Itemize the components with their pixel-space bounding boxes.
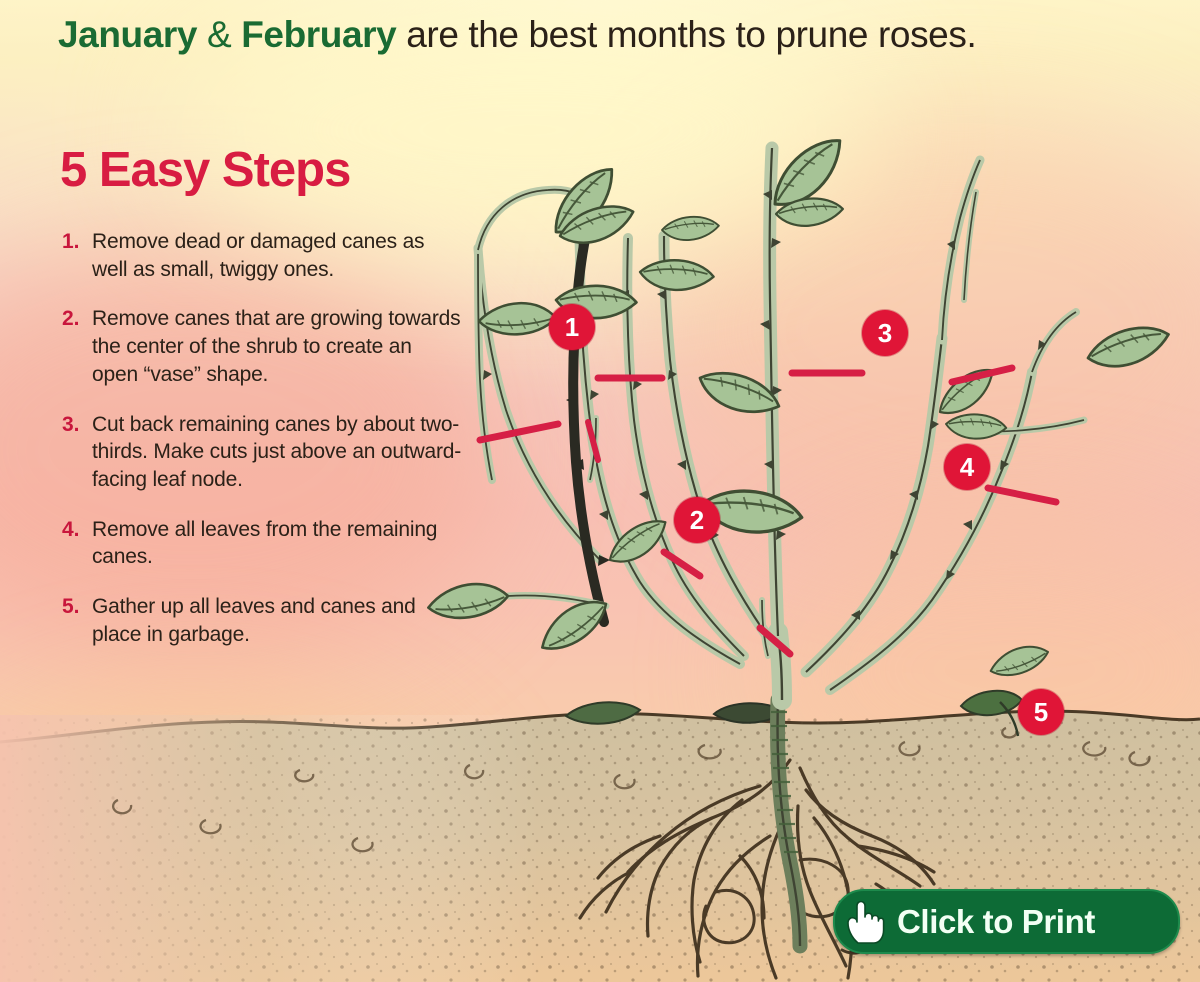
cut-mark xyxy=(988,488,1056,502)
diagram-marker-5: 5 xyxy=(1018,689,1064,735)
list-item: 4. Remove all leaves from the remaining … xyxy=(62,516,462,571)
pointing-hand-icon xyxy=(843,897,885,947)
diagram-marker-3: 3 xyxy=(862,310,908,356)
step-number: 2. xyxy=(62,305,92,333)
steps-list: 1. Remove dead or damaged canes as well … xyxy=(62,228,462,671)
list-item: 5. Gather up all leaves and canes and pl… xyxy=(62,593,462,648)
step-number: 1. xyxy=(62,228,92,256)
step-text: Remove canes that are growing towards th… xyxy=(92,305,462,388)
step-text: Gather up all leaves and canes and place… xyxy=(92,593,462,648)
diagram-marker-2: 2 xyxy=(674,497,720,543)
list-item: 3. Cut back remaining canes by about two… xyxy=(62,411,462,494)
infographic-poster: January & February are the best months t… xyxy=(0,0,1200,982)
title-ampersand: & xyxy=(207,14,231,55)
step-number: 5. xyxy=(62,593,92,621)
page-title: January & February are the best months t… xyxy=(58,14,976,56)
title-remainder: are the best months to prune roses. xyxy=(406,14,976,55)
click-to-print-button[interactable]: Click to Print xyxy=(833,889,1180,954)
steps-heading: 5 Easy Steps xyxy=(60,142,350,198)
diagram-marker-4: 4 xyxy=(944,444,990,490)
step-text: Remove dead or damaged canes as well as … xyxy=(92,228,462,283)
step-text: Cut back remaining canes by about two-th… xyxy=(92,411,462,494)
print-button-label: Click to Print xyxy=(897,903,1095,941)
step-number: 3. xyxy=(62,411,92,439)
title-month-february: February xyxy=(241,14,396,55)
list-item: 1. Remove dead or damaged canes as well … xyxy=(62,228,462,283)
diagram-marker-1: 1 xyxy=(549,304,595,350)
list-item: 2. Remove canes that are growing towards… xyxy=(62,305,462,388)
title-month-january: January xyxy=(58,14,197,55)
step-number: 4. xyxy=(62,516,92,544)
step-text: Remove all leaves from the remaining can… xyxy=(92,516,462,571)
